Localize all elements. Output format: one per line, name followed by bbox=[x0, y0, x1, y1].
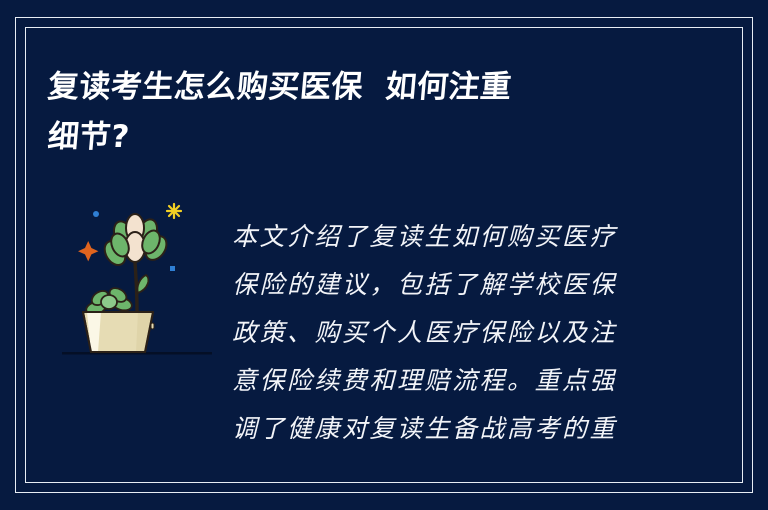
potted-plant-illustration bbox=[52, 190, 222, 370]
plant-top-rosette bbox=[100, 214, 170, 269]
flower-pot bbox=[83, 312, 154, 352]
body-line-5: 调了健康对复读生备战高考的重 bbox=[232, 405, 652, 453]
page-title: 复读考生怎么购买医保 如何注重 细节? bbox=[48, 62, 648, 162]
stem-side-leaf bbox=[137, 275, 148, 293]
body-line-4: 意保险续费和理赔流程。重点强 bbox=[232, 357, 652, 405]
body-line-3: 政策、购买个人医疗保险以及注 bbox=[232, 309, 652, 357]
poster-canvas: 复读考生怎么购买医保 如何注重 细节? 本文介绍了复读生如何购买医疗 保险的建议… bbox=[0, 0, 768, 510]
plant-stem bbox=[135, 262, 137, 310]
blue-dot-right-icon bbox=[170, 266, 175, 271]
yellow-sparkle-core bbox=[172, 209, 176, 213]
body-line-2: 保险的建议，包括了解学校医保 bbox=[232, 261, 652, 309]
title-line-1: 复读考生怎么购买医保 如何注重 bbox=[46, 62, 650, 112]
orange-star-left-icon bbox=[78, 241, 98, 261]
title-line-2: 细节? bbox=[46, 112, 650, 162]
summary-paragraph: 本文介绍了复读生如何购买医疗 保险的建议，包括了解学校医保 政策、购买个人医疗保… bbox=[232, 213, 652, 453]
blue-dot-upper-left-icon bbox=[93, 211, 99, 217]
body-line-1: 本文介绍了复读生如何购买医疗 bbox=[232, 213, 652, 261]
